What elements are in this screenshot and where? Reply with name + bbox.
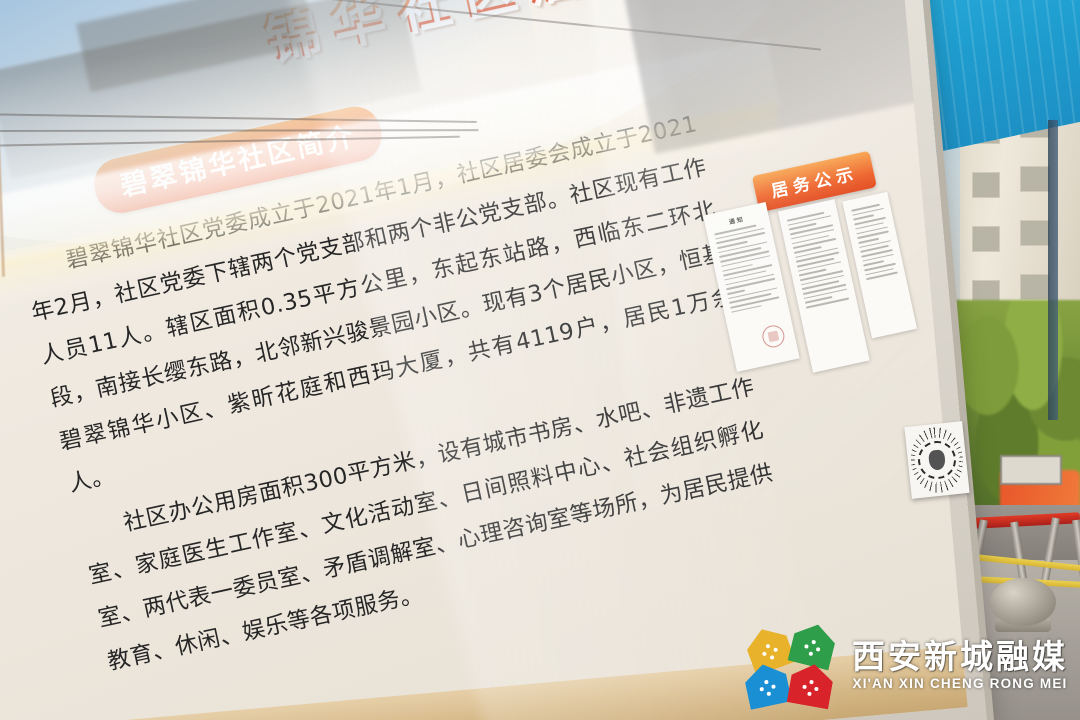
headline-char-jin: 锦 <box>260 4 323 67</box>
screenshot-root: 碧 翠 锦 华 社 区 居 务 公 开 栏 碧翠锦华社区简介 碧翠锦华社区党委成… <box>0 0 1080 720</box>
community-intro-panel: 碧翠锦华社区简介 碧翠锦华社区党委成立于2021年1月，社区居委会成立于2021… <box>3 34 798 691</box>
watermark-logo <box>746 624 842 706</box>
headline-char-qu: 区 <box>456 0 519 23</box>
house-icon-blue <box>742 660 792 710</box>
notice-board: 碧 翠 锦 华 社 区 居 务 公 开 栏 碧翠锦华社区简介 碧翠锦华社区党委成… <box>0 0 968 720</box>
headline-char-hua: 华 <box>325 0 388 52</box>
display-case: 碧 翠 锦 华 社 区 居 务 公 开 栏 碧翠锦华社区简介 碧翠锦华社区党委成… <box>0 0 987 720</box>
watermark-english: XI'AN XIN CHENG RONG MEI <box>852 677 1067 691</box>
reflection-pole <box>0 0 5 277</box>
headline-char-she: 社 <box>390 0 453 38</box>
notice-sheet-title: 通知 <box>709 210 764 230</box>
glass-sticker[interactable] <box>904 421 969 499</box>
watermark: 西安新城融媒 XI'AN XIN CHENG RONG MEI <box>746 624 1068 706</box>
red-seal-stamp <box>760 323 786 349</box>
house-icon-green <box>788 620 839 671</box>
distant-signboard <box>1000 455 1062 485</box>
canopy-post-far <box>1048 120 1058 420</box>
watermark-text: 西安新城融媒 XI'AN XIN CHENG RONG MEI <box>852 640 1068 691</box>
watermark-chinese: 西安新城融媒 <box>852 640 1068 673</box>
headline-char-ju: 居 <box>521 0 584 9</box>
stone-ball-ornament <box>990 578 1056 626</box>
